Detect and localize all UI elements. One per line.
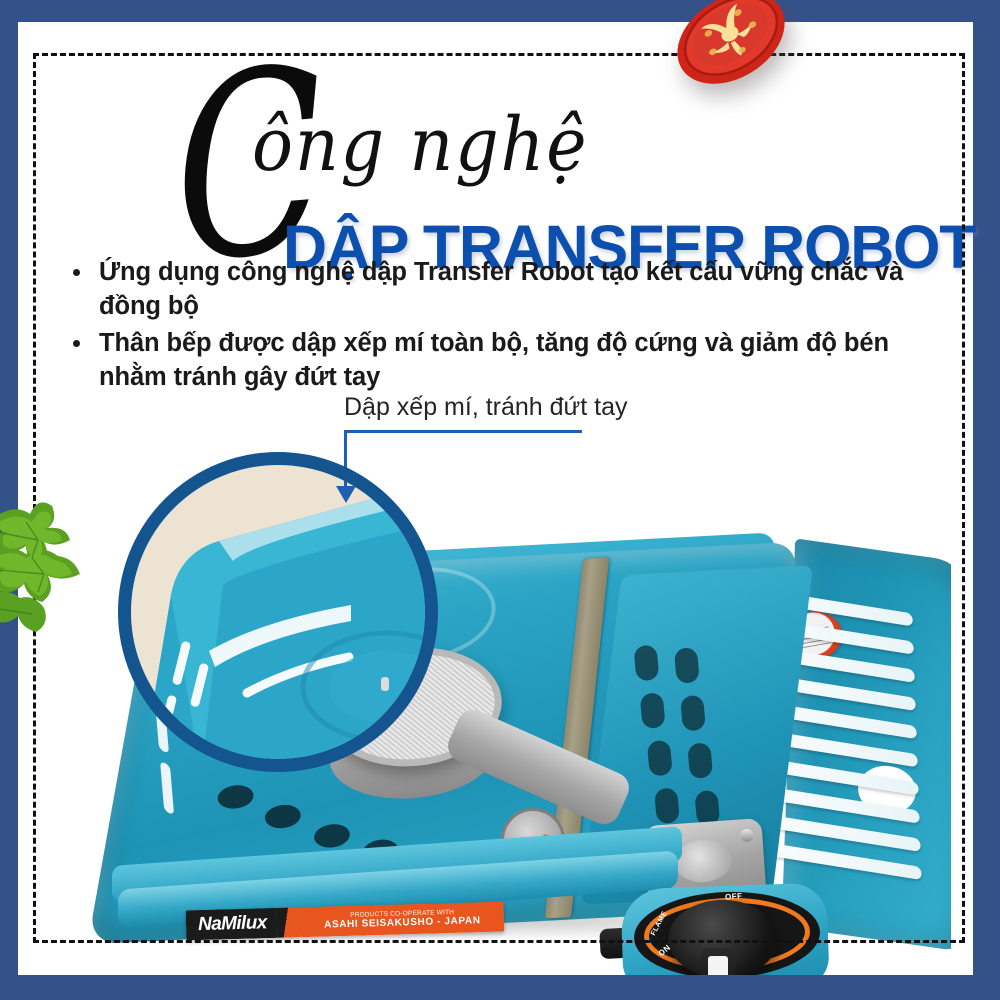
- headline-block: C ông nghệ DẬP TRANSFER ROBOT: [0, 40, 1000, 240]
- knob-label-off: OFF: [725, 891, 743, 901]
- callout-horizontal-line: [344, 430, 582, 433]
- script-subtitle: ông nghệ: [252, 102, 588, 188]
- magnifier-ring: [118, 452, 438, 772]
- herb-leaf-icon: [0, 462, 104, 644]
- brand-divider: [276, 907, 299, 938]
- knob-lever[interactable]: [701, 948, 735, 975]
- list-item: Thân bếp được dập xếp mí toàn bộ, tăng đ…: [62, 327, 952, 394]
- callout-label: Dập xếp mí, tránh đứt tay: [344, 393, 628, 422]
- brand-partner-block: PRODUCTS CO-OPERATE WITH ASAHI SEISAKUSH…: [298, 902, 504, 938]
- brand-name: NaMilux: [186, 908, 277, 941]
- list-item: Ứng dụng công nghệ dập Transfer Robot tạ…: [62, 256, 952, 323]
- poster-canvas: OFF FLAME ON Dập xếp mí, tránh đứt tay: [0, 0, 1000, 1000]
- feature-bullet-list: Ứng dụng công nghệ dập Transfer Robot tạ…: [62, 256, 952, 399]
- tomato-slice-icon: [668, 0, 794, 100]
- console-vent-holes: [633, 638, 746, 846]
